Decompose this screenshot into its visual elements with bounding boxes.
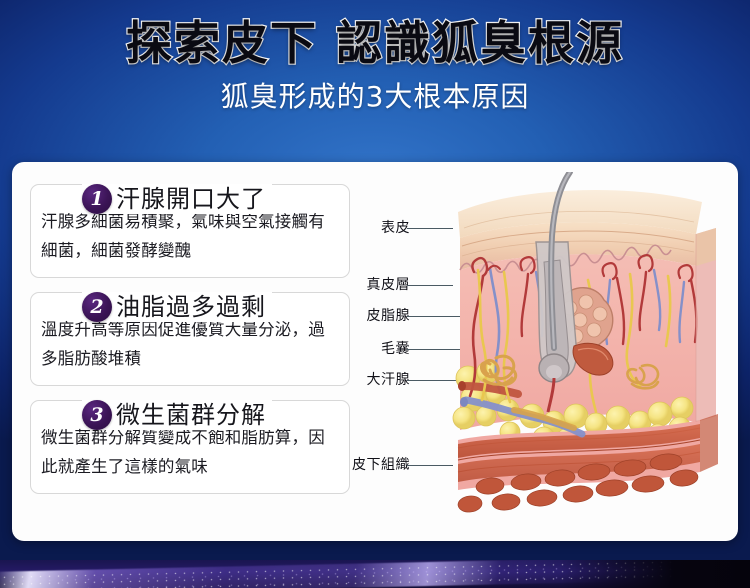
bottom-decorative-strip	[0, 560, 750, 588]
diagram-label-dermis: 真皮層	[367, 277, 411, 293]
page-root: 探索皮下 認識狐臭根源 狐臭形成的3大根本原因 1 汗腺開口大了 汗腺多細菌易積…	[0, 0, 750, 588]
reason-item-2: 2 油脂過多過剩 溫度升高等原因促進優質大量分泌，過多脂肪酸堆積	[30, 292, 350, 386]
content-card: 1 汗腺開口大了 汗腺多細菌易積聚，氣味與空氣接觸有細菌，細菌發酵變醜 2 油脂…	[12, 162, 738, 541]
reason-body-2: 溫度升高等原因促進優質大量分泌，過多脂肪酸堆積	[41, 315, 339, 373]
page-subtitle: 狐臭形成的3大根本原因	[0, 80, 750, 114]
header-banner: 探索皮下 認識狐臭根源 狐臭形成的3大根本原因	[0, 0, 750, 160]
reason-title-3: 微生菌群分解	[116, 400, 266, 430]
reason-item-3: 3 微生菌群分解 微生菌群分解質變成不飽和脂肪算，因此就產生了這樣的氣味	[30, 400, 350, 494]
reason-heading-3: 3 微生菌群分解	[82, 400, 272, 430]
reason-heading-2: 2 油脂過多過剩	[82, 292, 272, 322]
reason-badge-number-3: 3	[82, 400, 112, 430]
diagram-label-epidermis: 表皮	[381, 220, 410, 236]
reason-heading-1: 1 汗腺開口大了	[82, 184, 272, 214]
reason-title-2: 油脂過多過剩	[116, 292, 266, 322]
diagram-label-follicle: 毛囊	[381, 341, 410, 357]
reason-badge-number-2: 2	[82, 292, 112, 322]
reason-badge-number-1: 1	[82, 184, 112, 214]
diagram-label-sebaceous: 皮脂腺	[367, 308, 411, 324]
reasons-list: 1 汗腺開口大了 汗腺多細菌易積聚，氣味與空氣接觸有細菌，細菌發酵變醜 2 油脂…	[30, 170, 350, 502]
diagram-label-subcutis: 皮下組織	[352, 457, 410, 473]
reason-item-1: 1 汗腺開口大了 汗腺多細菌易積聚，氣味與空氣接觸有細菌，細菌發酵變醜	[30, 184, 350, 278]
skin-cross-section-illustration	[444, 172, 738, 541]
diagram-label-apocrine: 大汗腺	[367, 372, 411, 388]
reason-title-1: 汗腺開口大了	[116, 184, 266, 214]
strip-dark-fade	[560, 560, 750, 588]
page-title: 探索皮下 認識狐臭根源	[0, 14, 750, 72]
reason-body-3: 微生菌群分解質變成不飽和脂肪算，因此就產生了這樣的氣味	[41, 423, 339, 481]
skin-diagram: 表皮 真皮層 皮脂腺 毛囊 大汗腺 皮下組織	[352, 172, 738, 541]
reason-body-1: 汗腺多細菌易積聚，氣味與空氣接觸有細菌，細菌發酵變醜	[41, 207, 339, 265]
